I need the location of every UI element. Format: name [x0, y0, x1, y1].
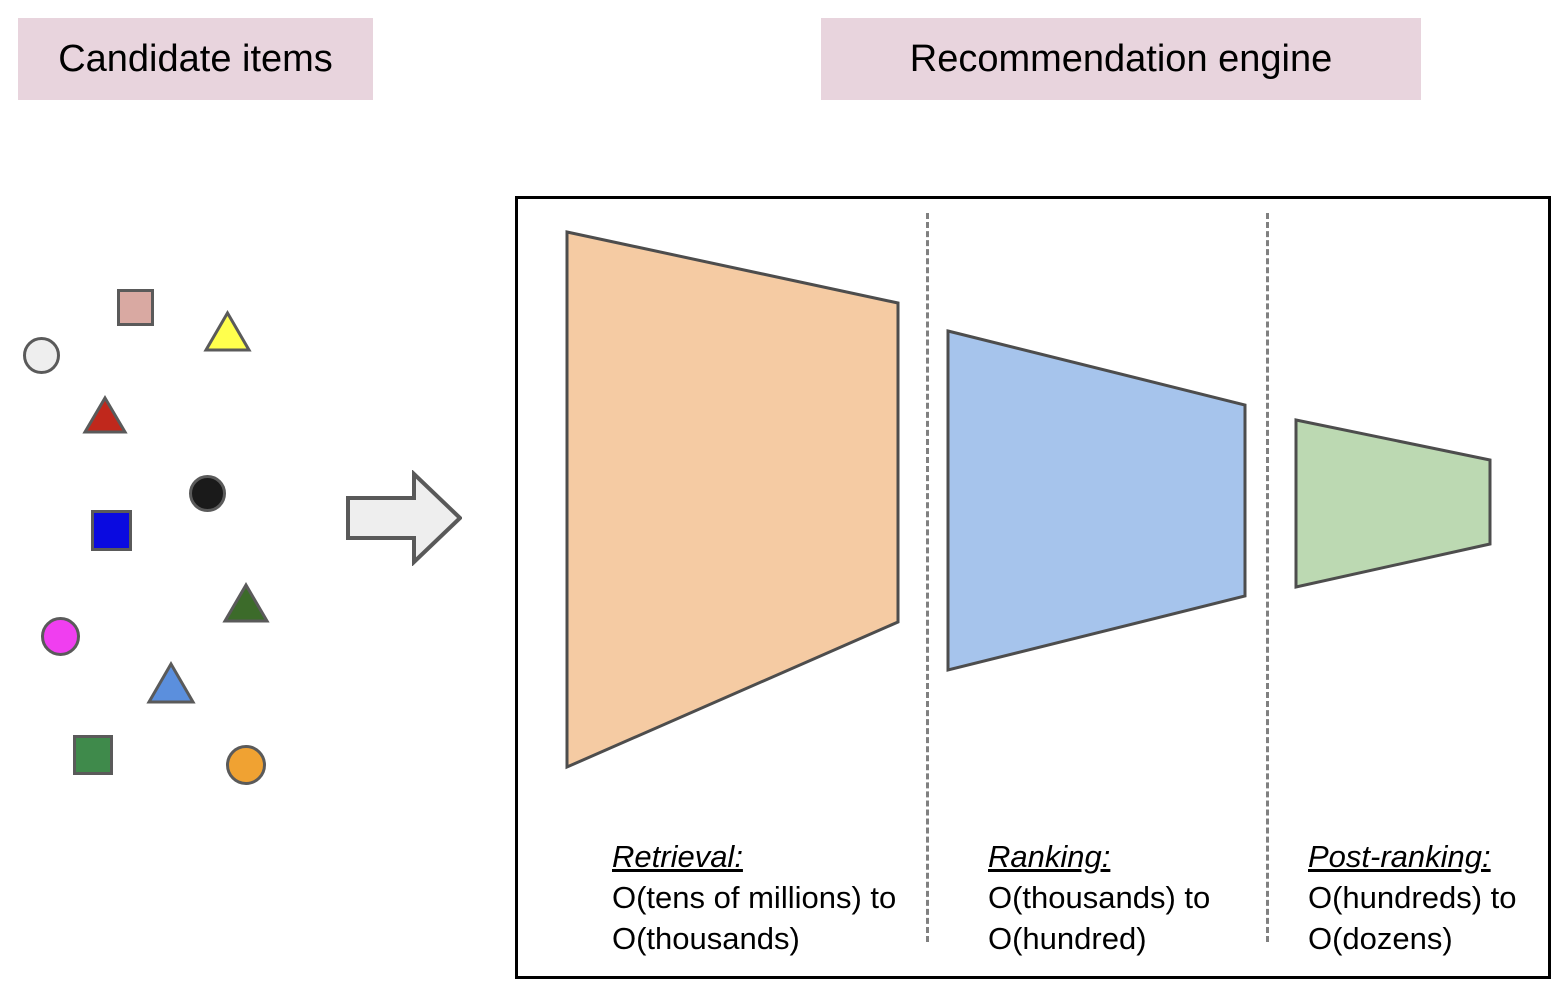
item-triangle-yellow [203, 310, 252, 353]
stage-title-postranking: Post-ranking: [1308, 836, 1491, 877]
stage-caption-postranking: Post-ranking:O(hundreds) to O(dozens) [1308, 836, 1517, 960]
stage-caption-retrieval: Retrieval:O(tens of millions) to O(thous… [612, 836, 896, 960]
item-square-blue [91, 510, 132, 551]
item-square-pink [117, 289, 154, 326]
divider-ranking-postranking [1266, 213, 1269, 942]
funnel-postranking [1292, 416, 1494, 591]
banner-recommendation-engine-label: Recommendation engine [910, 40, 1333, 78]
funnel-ranking [944, 327, 1249, 674]
stage-scale-retrieval: O(tens of millions) to O(thousands) [612, 877, 896, 959]
item-triangle-darkgreen [222, 582, 270, 624]
item-circle-black [189, 475, 226, 512]
funnel-retrieval [563, 228, 902, 771]
stage-scale-ranking: O(thousands) to O(hundred) [988, 877, 1210, 959]
stage-scale-postranking: O(hundreds) to O(dozens) [1308, 877, 1517, 959]
flow-arrow-icon [346, 470, 462, 566]
item-circle-magenta [41, 617, 80, 656]
item-circle-orange [226, 745, 266, 785]
divider-retrieval-ranking [926, 213, 929, 942]
item-circle-white [23, 337, 60, 374]
banner-recommendation-engine: Recommendation engine [821, 18, 1421, 100]
item-triangle-red [82, 395, 128, 435]
banner-candidate-items: Candidate items [18, 18, 373, 100]
stage-title-ranking: Ranking: [988, 836, 1110, 877]
banner-candidate-items-label: Candidate items [58, 40, 333, 78]
stage-title-retrieval: Retrieval: [612, 836, 743, 877]
item-triangle-blue [146, 661, 196, 705]
item-square-green [73, 735, 113, 775]
diagram-canvas: Candidate items Recommendation engine Re… [0, 0, 1568, 1000]
stage-caption-ranking: Ranking:O(thousands) to O(hundred) [988, 836, 1210, 960]
